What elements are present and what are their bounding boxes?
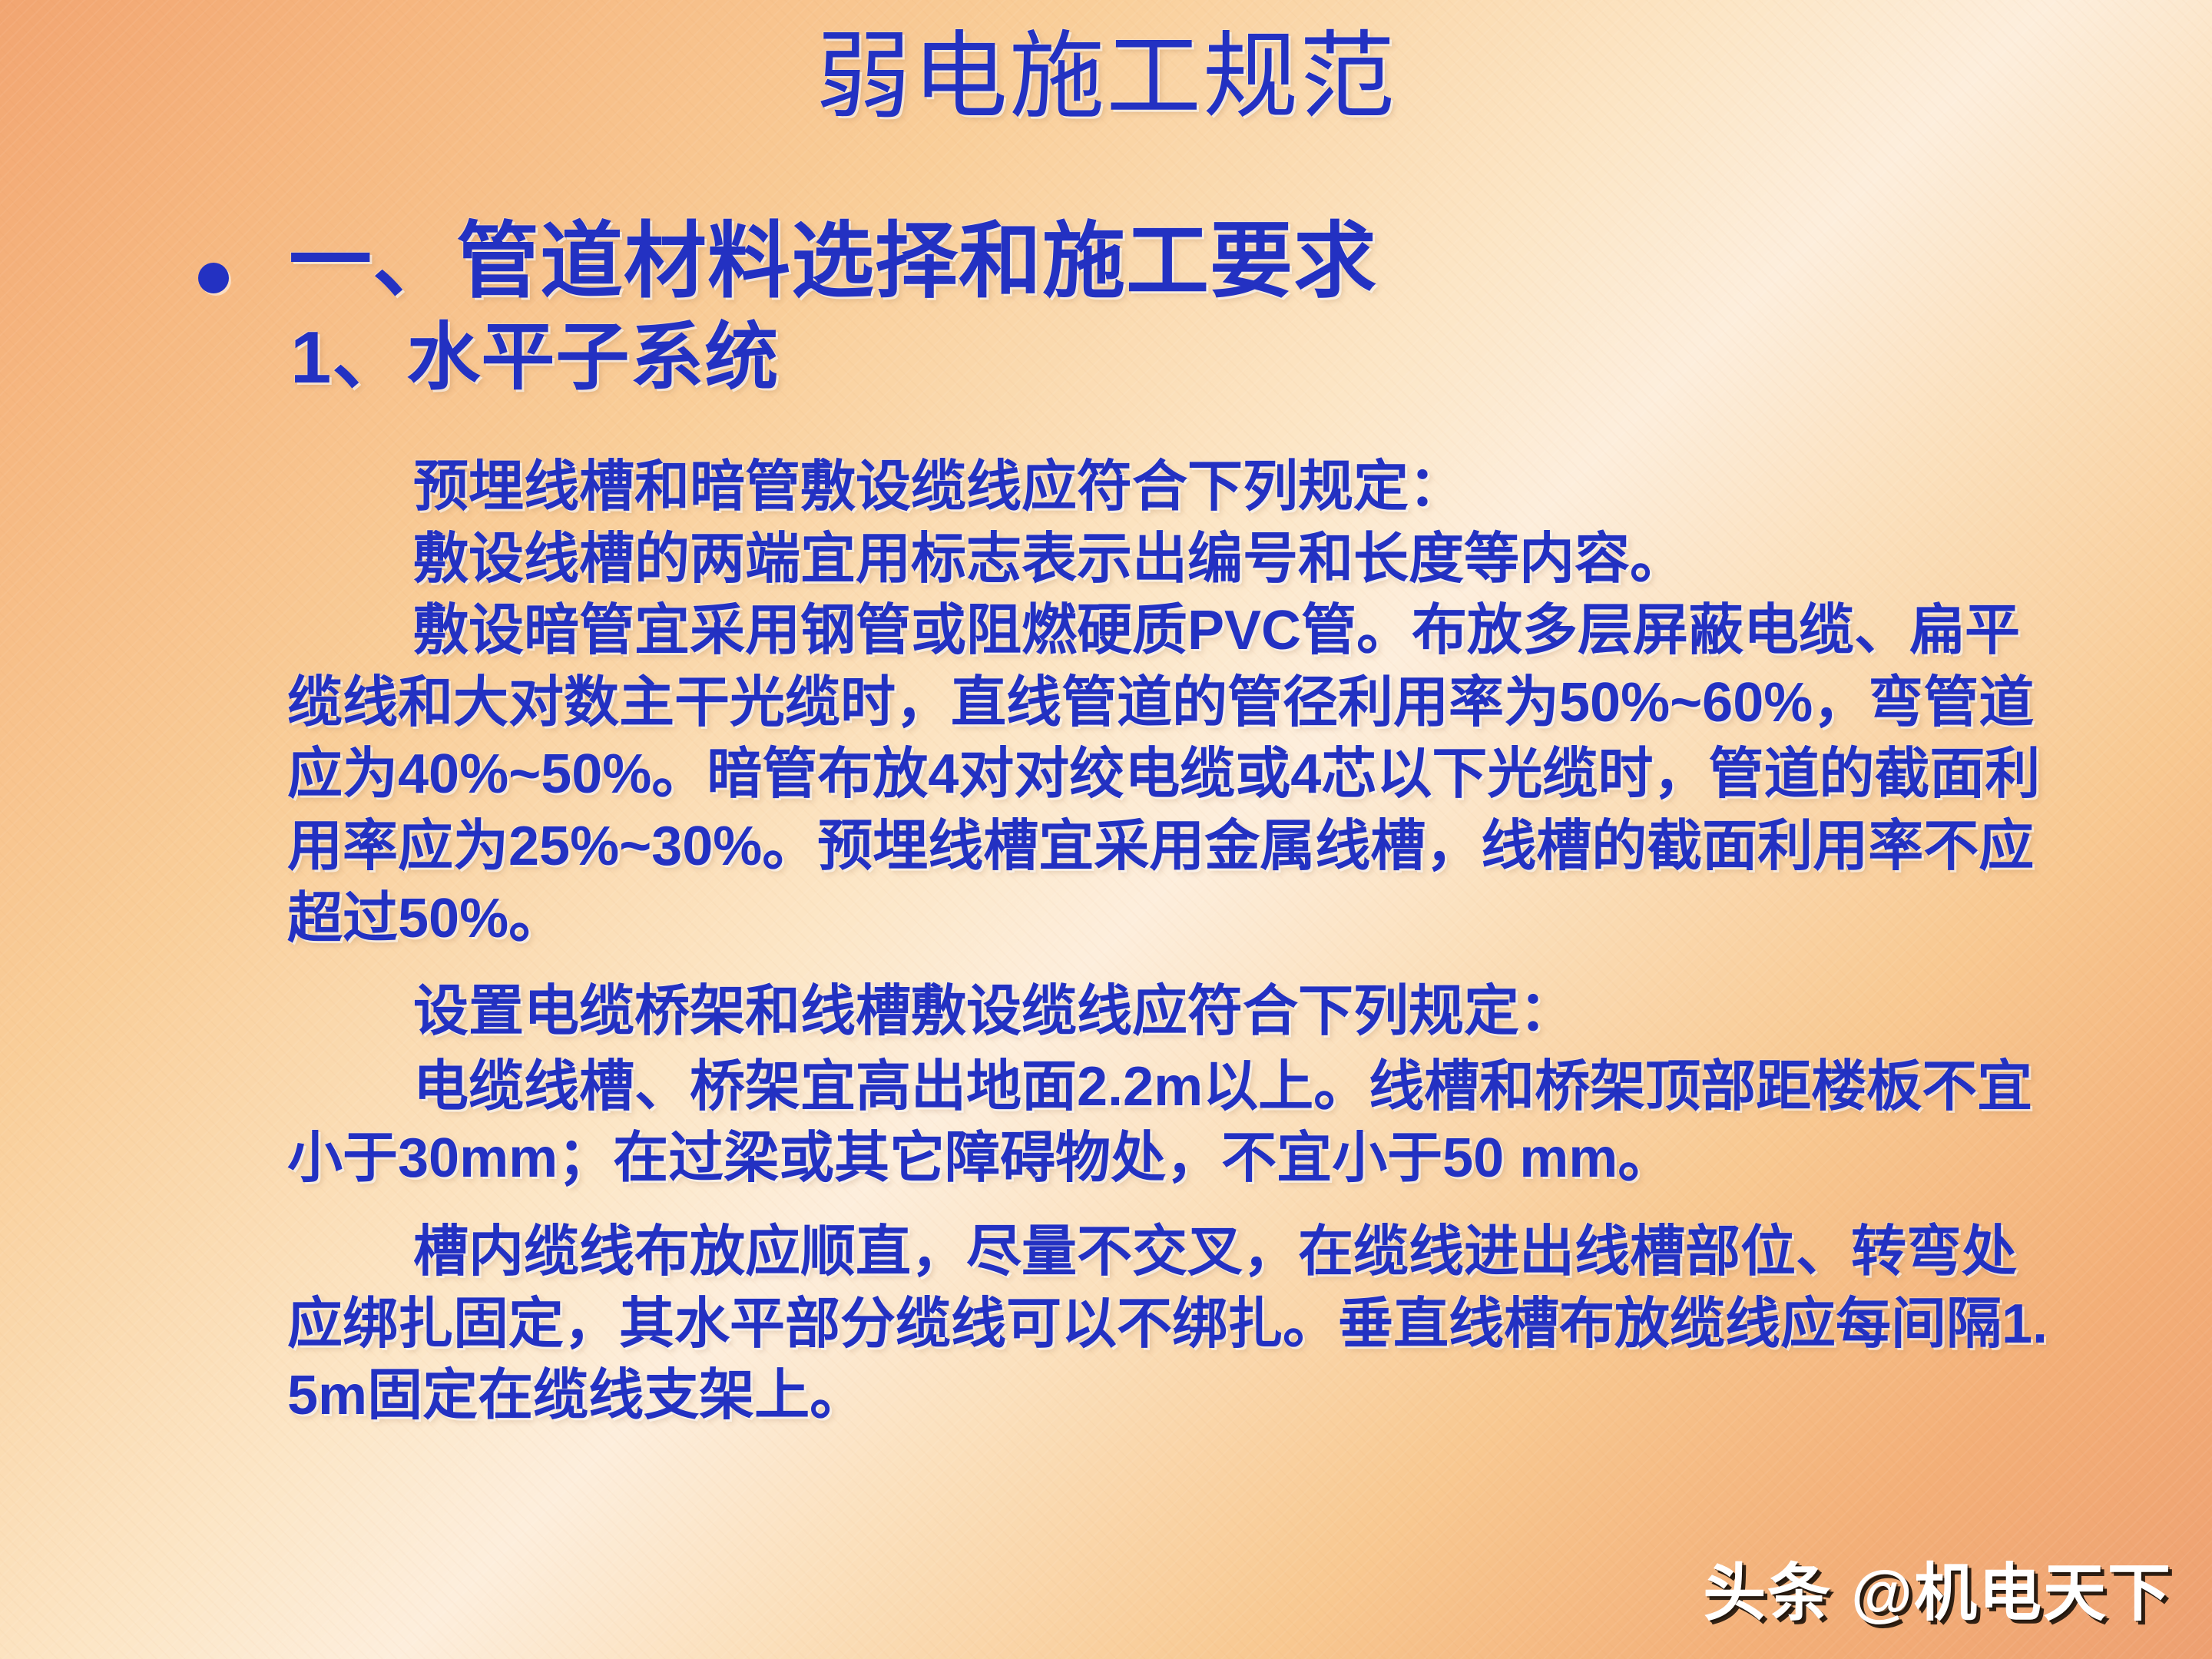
heading-level1-row: 一、管道材料选择和施工要求 — [198, 217, 2164, 306]
paragraph-3: 敷设暗管宜采用钢管或阻燃硬质PVC管。布放多层屏蔽电缆、扁平缆线和大对数主干光缆… — [287, 595, 2068, 955]
bullet-dot-icon — [198, 263, 229, 293]
watermark-label: 头条 @机电天下 — [1703, 1541, 2172, 1633]
body-text-block: 预埋线槽和暗管敷设缆线应符合下列规定： 敷设线槽的两端宜用标志表示出编号和长度等… — [287, 452, 2068, 1435]
heading-block: 一、管道材料选择和施工要求 1、水平子系统 — [198, 217, 2164, 398]
heading-level1: 一、管道材料选择和施工要求 — [289, 217, 1377, 306]
slide-title: 弱电施工规范 — [0, 29, 2212, 124]
paragraph-5: 电缆线槽、桥架宜高出地面2.2m以上。线槽和桥架顶部距楼板不宜小于30mm；在过… — [287, 1051, 2068, 1195]
slide-canvas: 弱电施工规范 一、管道材料选择和施工要求 1、水平子系统 预埋线槽和暗管敷设缆线… — [0, 0, 2212, 1659]
paragraph-4: 设置电缆桥架和线槽敷设缆线应符合下列规定： — [287, 976, 2068, 1048]
heading-level2: 1、水平子系统 — [290, 317, 2164, 399]
paragraph-1: 预埋线槽和暗管敷设缆线应符合下列规定： — [287, 452, 2068, 524]
paragraph-2: 敷设线槽的两端宜用标志表示出编号和长度等内容。 — [287, 524, 2068, 596]
paragraph-6: 槽内缆线布放应顺直，尽量不交叉，在缆线进出线槽部位、转弯处应绑扎固定，其水平部分… — [287, 1217, 2068, 1432]
